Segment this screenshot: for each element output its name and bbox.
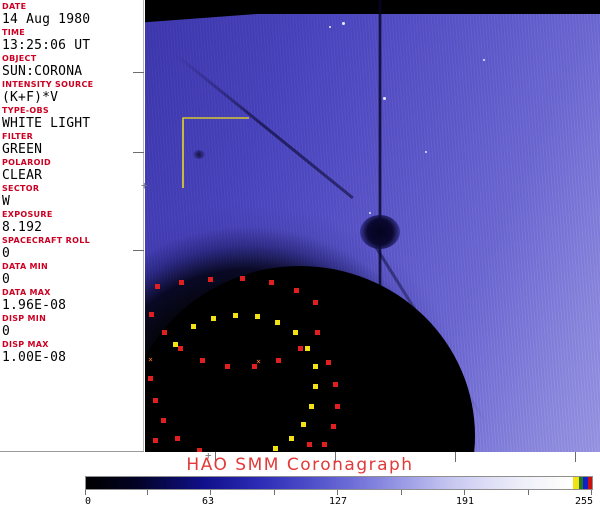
colorbar[interactable] — [85, 476, 593, 490]
marker-dot-yellow — [233, 313, 238, 318]
marker-dot-red — [313, 300, 318, 305]
metadata-label: TYPE-OBS — [2, 106, 144, 116]
marker-dot-red — [149, 312, 154, 317]
metadata-label: FILTER — [2, 132, 144, 142]
metadata-value: WHITE LIGHT — [2, 116, 144, 131]
marker-dot-red — [200, 358, 205, 363]
metadata-value: 1.96E-08 — [2, 298, 144, 313]
marker-dot-red — [276, 358, 281, 363]
metadata-label: SPACECRAFT ROLL — [2, 236, 144, 246]
marker-dot-red — [197, 448, 202, 452]
marker-dot-yellow — [289, 436, 294, 441]
marker-dot-red — [162, 330, 167, 335]
metadata-label: OBJECT — [2, 54, 144, 64]
marker-dot-yellow — [313, 364, 318, 369]
metadata-row: SECTORW — [2, 184, 144, 209]
marker-dot-red — [315, 330, 320, 335]
sidebar-right-border — [143, 0, 144, 452]
metadata-value: CLEAR — [2, 168, 144, 183]
marker-dot-yellow — [255, 314, 260, 319]
metadata-row: SPACECRAFT ROLL0 — [2, 236, 144, 261]
marker-dot-red — [307, 442, 312, 447]
marker-dot-red — [208, 277, 213, 282]
star-speck — [483, 59, 485, 61]
marker-dot-red — [335, 404, 340, 409]
metadata-label: EXPOSURE — [2, 210, 144, 220]
occulter-arm-blob — [360, 215, 400, 249]
metadata-value: (K+F)*V — [2, 90, 144, 105]
metadata-row: FILTERGREEN — [2, 132, 144, 157]
colorbar-tick-label: 127 — [329, 496, 347, 508]
metadata-value: 0 — [2, 324, 144, 339]
colorbar-tick — [85, 490, 86, 495]
colorbar-tick-label: 191 — [456, 496, 474, 508]
metadata-row: DATA MIN0 — [2, 262, 144, 287]
colorbar-minor-tick — [528, 490, 529, 495]
marker-dot-red — [326, 360, 331, 365]
marker-dot-red — [175, 436, 180, 441]
star-speck — [342, 22, 345, 25]
instrument-title: HAO SMM Coronagraph — [0, 455, 600, 475]
marker-dot-yellow — [305, 346, 310, 351]
marker-dot-red — [179, 280, 184, 285]
coronagraph-viewer: DATE14 Aug 1980TIME13:25:06 UTOBJECTSUN:… — [0, 0, 600, 512]
metadata-value: 1.00E-08 — [2, 350, 144, 365]
metadata-value: GREEN — [2, 142, 144, 157]
field-of-view-mask-top — [145, 0, 600, 14]
marker-dot-red — [333, 382, 338, 387]
metadata-value: 8.192 — [2, 220, 144, 235]
colorbar-ramp — [86, 477, 573, 489]
sidebar-bottom-divider — [0, 451, 144, 452]
marker-dot-red — [153, 398, 158, 403]
metadata-row: DISP MIN0 — [2, 314, 144, 339]
metadata-row: EXPOSURE8.192 — [2, 210, 144, 235]
metadata-value: 0 — [2, 272, 144, 287]
marker-dot-red — [298, 346, 303, 351]
axis-center-plus-marker: + — [141, 180, 148, 191]
metadata-value: 14 Aug 1980 — [2, 12, 144, 27]
marker-dot-yellow — [301, 422, 306, 427]
marker-dot-yellow — [273, 446, 278, 451]
marker-dot-yellow — [275, 320, 280, 325]
marker-dot-red — [240, 276, 245, 281]
star-speck — [425, 151, 427, 153]
metadata-label: SECTOR — [2, 184, 144, 194]
colorbar-tick — [464, 490, 465, 495]
star-speck — [383, 97, 386, 100]
metadata-row: TYPE-OBSWHITE LIGHT — [2, 106, 144, 131]
metadata-label: POLAROID — [2, 158, 144, 168]
colorbar-tick-label: 0 — [85, 496, 91, 508]
marker-cross: × — [255, 358, 262, 365]
marker-dot-red — [153, 438, 158, 443]
metadata-value: 0 — [2, 246, 144, 261]
metadata-label: DATE — [2, 2, 144, 12]
axis-tick-left — [133, 152, 144, 153]
marker-dot-red — [178, 346, 183, 351]
star-speck — [369, 212, 371, 214]
marker-dot-yellow — [309, 404, 314, 409]
marker-dot-red — [294, 288, 299, 293]
metadata-list: DATE14 Aug 1980TIME13:25:06 UTOBJECTSUN:… — [2, 2, 144, 365]
metadata-row: TIME13:25:06 UT — [2, 28, 144, 53]
colorbar-yellow-stripe — [573, 477, 580, 489]
metadata-row: DATE14 Aug 1980 — [2, 2, 144, 27]
colorbar-minor-tick — [147, 490, 148, 495]
colorbar-tick — [591, 490, 592, 495]
colorbar-tick — [337, 490, 338, 495]
axis-tick-left — [133, 250, 144, 251]
colorbar-tick-labels: 063127191255 — [0, 496, 600, 510]
metadata-row: OBJECTSUN:CORONA — [2, 54, 144, 79]
marker-dot-yellow — [211, 316, 216, 321]
axis-tick-left — [133, 72, 144, 73]
colorbar-red-stripe — [588, 477, 592, 489]
marker-dot-red — [331, 424, 336, 429]
colorbar-tick-label: 255 — [575, 496, 593, 508]
marker-dot-yellow — [293, 330, 298, 335]
metadata-row: POLAROIDCLEAR — [2, 158, 144, 183]
metadata-value: SUN:CORONA — [2, 64, 144, 79]
metadata-row: INTENSITY SOURCE(K+F)*V — [2, 80, 144, 105]
marker-dot-red — [225, 364, 230, 369]
marker-dot-red — [322, 442, 327, 447]
star-speck — [329, 26, 331, 28]
colorbar-tick — [210, 490, 211, 495]
metadata-row: DISP MAX1.00E-08 — [2, 340, 144, 365]
metadata-label: TIME — [2, 28, 144, 38]
metadata-row: DATA MAX1.96E-08 — [2, 288, 144, 313]
metadata-value: 13:25:06 UT — [2, 38, 144, 53]
marker-dot-red — [155, 284, 160, 289]
marker-dot-yellow — [173, 342, 178, 347]
marker-cross: × — [147, 356, 154, 363]
metadata-value: W — [2, 194, 144, 209]
metadata-label: DATA MAX — [2, 288, 144, 298]
metadata-label: DISP MIN — [2, 314, 144, 324]
colorbar-tick-label: 63 — [202, 496, 214, 508]
marker-dot-yellow — [191, 324, 196, 329]
colorbar-minor-tick — [401, 490, 402, 495]
metadata-sidebar: DATE14 Aug 1980TIME13:25:06 UTOBJECTSUN:… — [0, 0, 144, 452]
marker-dot-yellow — [313, 384, 318, 389]
colorbar-minor-tick — [274, 490, 275, 495]
dust-speck — [193, 150, 205, 159]
metadata-label: INTENSITY SOURCE — [2, 80, 144, 90]
metadata-label: DATA MIN — [2, 262, 144, 272]
metadata-label: DISP MAX — [2, 340, 144, 350]
marker-dot-red — [148, 376, 153, 381]
marker-dot-red — [269, 280, 274, 285]
marker-dot-red — [161, 418, 166, 423]
coronagraph-image[interactable]: ×× — [145, 0, 600, 452]
